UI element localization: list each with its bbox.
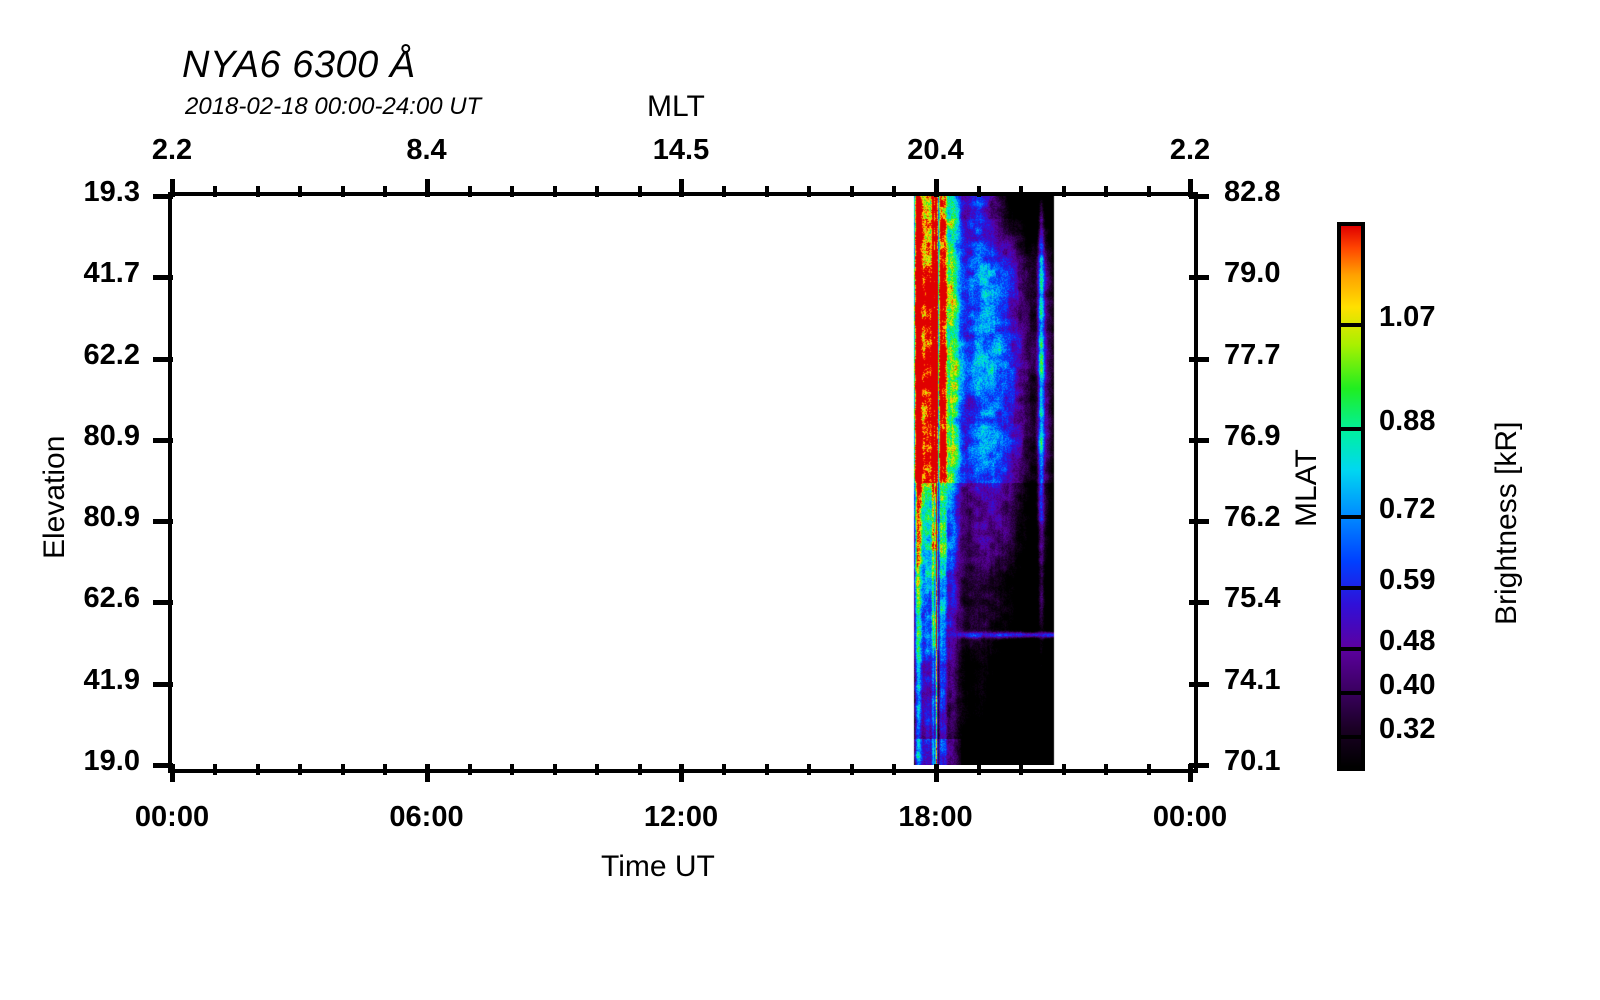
ytick-label-right: 74.1 bbox=[1224, 664, 1280, 697]
keogram-heatmap bbox=[172, 196, 1190, 765]
tick-mark bbox=[1062, 186, 1066, 197]
ytick-label-right: 77.7 bbox=[1224, 339, 1280, 372]
ytick-label-left: 62.6 bbox=[0, 582, 140, 615]
tick-mark bbox=[153, 600, 173, 605]
right-axis-title: MLAT bbox=[1290, 449, 1324, 527]
tick-mark bbox=[1147, 764, 1151, 775]
tick-mark bbox=[1189, 763, 1209, 768]
tick-mark bbox=[765, 764, 769, 775]
tick-mark bbox=[1104, 764, 1108, 775]
tick-mark bbox=[553, 186, 557, 197]
colorbar-tick bbox=[1341, 691, 1361, 695]
tick-mark bbox=[765, 186, 769, 197]
tick-mark bbox=[383, 764, 387, 775]
colorbar-gradient bbox=[1341, 226, 1361, 767]
xtick-label: 00:00 bbox=[42, 801, 302, 834]
page-subtitle: 2018-02-18 00:00-24:00 UT bbox=[185, 93, 481, 121]
xtick-label: 00:00 bbox=[1060, 801, 1320, 834]
colorbar-tick bbox=[1341, 427, 1361, 431]
tick-mark bbox=[153, 275, 173, 280]
page-title: NYA6 6300 Å bbox=[182, 44, 416, 87]
tick-mark bbox=[153, 438, 173, 443]
tick-mark bbox=[722, 764, 726, 775]
tick-mark bbox=[1189, 519, 1209, 524]
tick-mark bbox=[213, 186, 217, 197]
mlt-tick-label: 2.2 bbox=[1060, 134, 1320, 167]
ytick-label-left: 41.9 bbox=[0, 664, 140, 697]
ytick-label-right: 76.2 bbox=[1224, 501, 1280, 534]
tick-mark bbox=[934, 179, 939, 197]
mlt-tick-label: 14.5 bbox=[551, 134, 811, 167]
tick-mark bbox=[510, 764, 514, 775]
tick-mark bbox=[256, 764, 260, 775]
tick-mark bbox=[383, 186, 387, 197]
colorbar-tick-label: 0.59 bbox=[1379, 564, 1435, 597]
tick-mark bbox=[256, 186, 260, 197]
tick-mark bbox=[298, 764, 302, 775]
ytick-label-right: 79.0 bbox=[1224, 257, 1280, 290]
xtick-label: 06:00 bbox=[297, 801, 557, 834]
tick-mark bbox=[638, 186, 642, 197]
bottom-axis-title: Time UT bbox=[601, 850, 715, 884]
tick-mark bbox=[892, 186, 896, 197]
tick-mark bbox=[807, 764, 811, 775]
ytick-label-left: 41.7 bbox=[0, 257, 140, 290]
tick-mark bbox=[425, 179, 430, 197]
tick-mark bbox=[1019, 186, 1023, 197]
mlt-tick-label: 20.4 bbox=[806, 134, 1066, 167]
mlt-tick-label: 2.2 bbox=[42, 134, 302, 167]
tick-mark bbox=[153, 194, 173, 199]
ytick-label-right: 82.8 bbox=[1224, 176, 1280, 209]
tick-mark bbox=[341, 764, 345, 775]
xtick-label: 12:00 bbox=[551, 801, 811, 834]
plot-inner bbox=[172, 196, 1194, 769]
tick-mark bbox=[679, 764, 684, 782]
colorbar-tick-label: 0.88 bbox=[1379, 405, 1435, 438]
tick-mark bbox=[1189, 438, 1209, 443]
tick-mark bbox=[934, 764, 939, 782]
colorbar-tick bbox=[1341, 735, 1361, 739]
tick-mark bbox=[638, 764, 642, 775]
keogram-figure: NYA6 6300 Å 2018-02-18 00:00-24:00 UT 00… bbox=[0, 0, 1600, 1000]
ytick-label-left: 19.3 bbox=[0, 176, 140, 209]
tick-mark bbox=[1147, 186, 1151, 197]
colorbar-tick-label: 0.48 bbox=[1379, 625, 1435, 658]
tick-mark bbox=[977, 186, 981, 197]
tick-mark bbox=[153, 519, 173, 524]
tick-mark bbox=[153, 682, 173, 687]
ytick-label-right: 75.4 bbox=[1224, 582, 1280, 615]
colorbar-tick-label: 0.32 bbox=[1379, 713, 1435, 746]
tick-mark bbox=[213, 764, 217, 775]
tick-mark bbox=[553, 764, 557, 775]
tick-mark bbox=[468, 186, 472, 197]
colorbar-tick-label: 1.07 bbox=[1379, 301, 1435, 334]
top-axis-title: MLT bbox=[647, 90, 705, 124]
tick-mark bbox=[298, 186, 302, 197]
tick-mark bbox=[595, 186, 599, 197]
colorbar-tick-label: 0.72 bbox=[1379, 493, 1435, 526]
colorbar bbox=[1337, 222, 1365, 771]
tick-mark bbox=[425, 764, 430, 782]
tick-mark bbox=[468, 764, 472, 775]
tick-mark bbox=[1104, 186, 1108, 197]
tick-mark bbox=[679, 179, 684, 197]
tick-mark bbox=[1189, 682, 1209, 687]
ytick-label-right: 76.9 bbox=[1224, 420, 1280, 453]
colorbar-tick bbox=[1341, 515, 1361, 519]
tick-mark bbox=[595, 764, 599, 775]
colorbar-tick bbox=[1341, 323, 1361, 327]
colorbar-tick-label: 0.40 bbox=[1379, 669, 1435, 702]
tick-mark bbox=[892, 764, 896, 775]
left-axis-title: Elevation bbox=[38, 435, 72, 558]
tick-mark bbox=[341, 186, 345, 197]
xtick-label: 18:00 bbox=[806, 801, 1066, 834]
colorbar-title: Brightness [kR] bbox=[1490, 421, 1524, 624]
tick-mark bbox=[1062, 764, 1066, 775]
ytick-label-right: 70.1 bbox=[1224, 745, 1280, 778]
tick-mark bbox=[1189, 194, 1209, 199]
tick-mark bbox=[850, 764, 854, 775]
mlt-tick-label: 8.4 bbox=[297, 134, 557, 167]
tick-mark bbox=[1189, 275, 1209, 280]
tick-mark bbox=[1019, 764, 1023, 775]
ytick-label-left: 62.2 bbox=[0, 339, 140, 372]
plot-area bbox=[168, 192, 1198, 773]
colorbar-tick bbox=[1341, 647, 1361, 651]
tick-mark bbox=[850, 186, 854, 197]
tick-mark bbox=[722, 186, 726, 197]
ytick-label-left: 19.0 bbox=[0, 745, 140, 778]
tick-mark bbox=[1189, 357, 1209, 362]
colorbar-tick bbox=[1341, 586, 1361, 590]
tick-mark bbox=[807, 186, 811, 197]
tick-mark bbox=[153, 763, 173, 768]
tick-mark bbox=[977, 764, 981, 775]
tick-mark bbox=[510, 186, 514, 197]
tick-mark bbox=[153, 357, 173, 362]
tick-mark bbox=[1189, 600, 1209, 605]
